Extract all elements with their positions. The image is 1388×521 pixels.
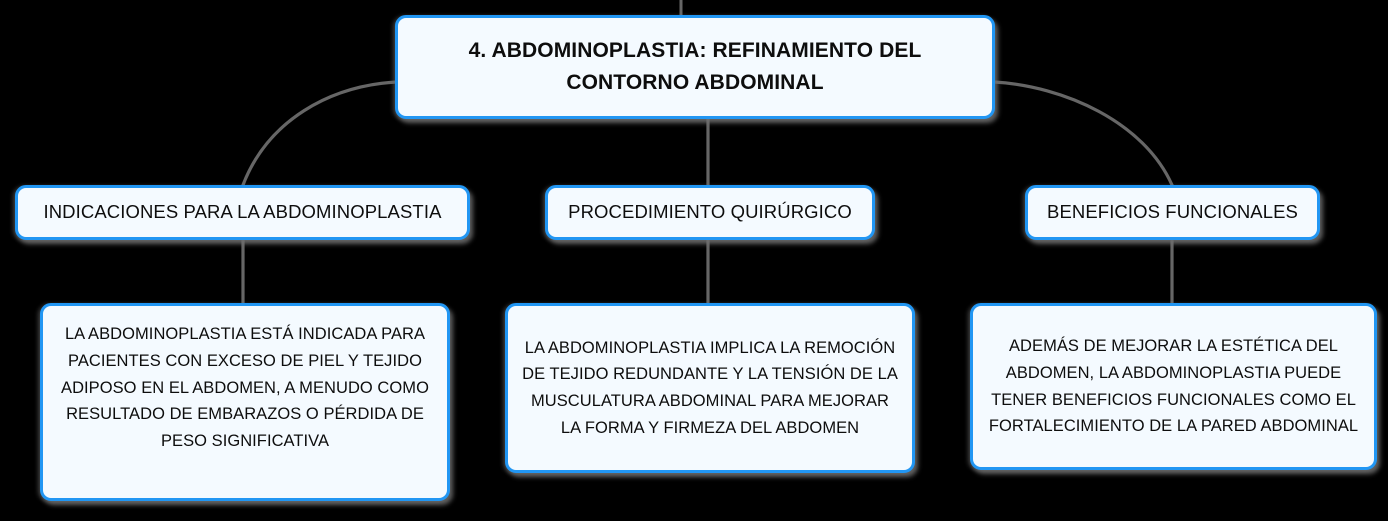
branch-node-indicaciones-label: INDICACIONES PARA LA ABDOMINOPLASTIA — [18, 200, 467, 224]
detail-node-procedimiento-text: LA ABDOMINOPLASTIA IMPLICA LA REMOCIÓN D… — [508, 335, 912, 442]
detail-node-beneficios[interactable]: ADEMÁS DE MEJORAR LA ESTÉTICA DEL ABDOME… — [970, 303, 1377, 470]
detail-node-beneficios-text: ADEMÁS DE MEJORAR LA ESTÉTICA DEL ABDOME… — [973, 333, 1374, 440]
detail-node-procedimiento[interactable]: LA ABDOMINOPLASTIA IMPLICA LA REMOCIÓN D… — [505, 303, 915, 473]
branch-node-procedimiento-label: PROCEDIMIENTO QUIRÚRGICO — [548, 200, 872, 224]
mindmap-canvas: 4. ABDOMINOPLASTIA: REFINAMIENTO DEL CON… — [0, 0, 1388, 521]
root-node[interactable]: 4. ABDOMINOPLASTIA: REFINAMIENTO DEL CON… — [395, 15, 995, 119]
branch-node-indicaciones[interactable]: INDICACIONES PARA LA ABDOMINOPLASTIA — [15, 185, 470, 240]
branch-node-beneficios[interactable]: BENEFICIOS FUNCIONALES — [1025, 185, 1320, 240]
detail-node-indicaciones[interactable]: LA ABDOMINOPLASTIA ESTÁ INDICADA PARA PA… — [40, 303, 450, 501]
branch-node-beneficios-label: BENEFICIOS FUNCIONALES — [1028, 200, 1317, 224]
detail-node-indicaciones-text: LA ABDOMINOPLASTIA ESTÁ INDICADA PARA PA… — [43, 321, 447, 455]
connector-root-to-branch-2 — [994, 82, 1172, 185]
branch-node-procedimiento[interactable]: PROCEDIMIENTO QUIRÚRGICO — [545, 185, 875, 240]
root-node-label: 4. ABDOMINOPLASTIA: REFINAMIENTO DEL CON… — [398, 35, 992, 99]
connector-root-to-branch-0 — [243, 82, 396, 185]
